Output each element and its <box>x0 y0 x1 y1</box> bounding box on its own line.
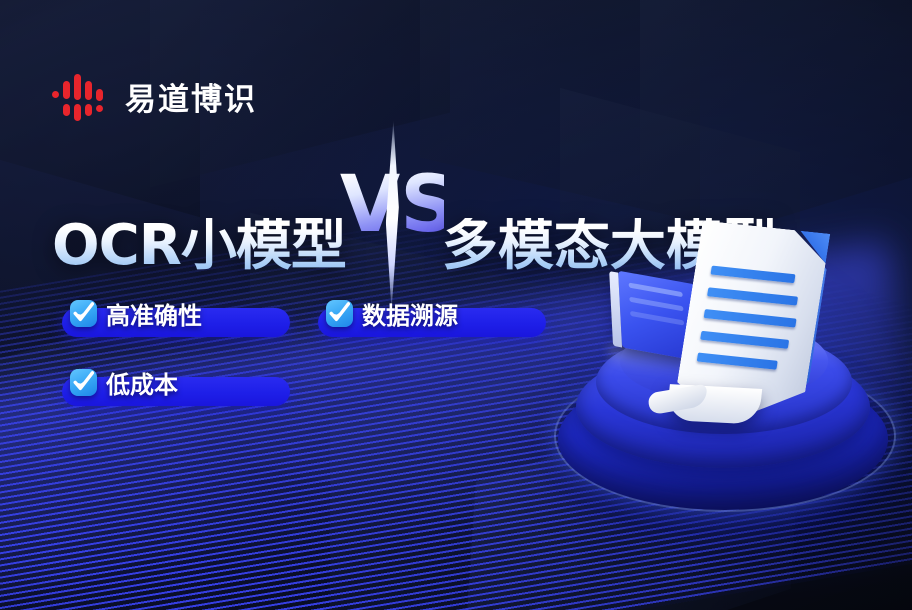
feature-1[interactable]: 数据溯源 <box>326 296 458 331</box>
3d-document-on-podium-illustration <box>548 218 912 548</box>
brand-name: 易道博识 <box>125 74 257 119</box>
brand-logo[interactable]: 易道博识 <box>52 68 257 124</box>
feature-label: 高准确性 <box>106 296 202 331</box>
check-icon <box>326 300 353 327</box>
feature-label: 数据溯源 <box>362 296 458 331</box>
check-icon <box>70 300 97 327</box>
vs-badge: VS <box>340 162 444 272</box>
poster-canvas: REPORT 易道博识 OCR小模型 VS 多模态大模型 <box>0 0 912 610</box>
check-icon <box>70 369 97 396</box>
feature-2[interactable]: 低成本 <box>70 365 178 400</box>
feature-label: 低成本 <box>106 365 178 400</box>
headline-left: OCR小模型 <box>52 218 346 274</box>
sound-wave-dots-logo-icon <box>52 68 108 124</box>
feature-0[interactable]: 高准确性 <box>70 296 202 331</box>
